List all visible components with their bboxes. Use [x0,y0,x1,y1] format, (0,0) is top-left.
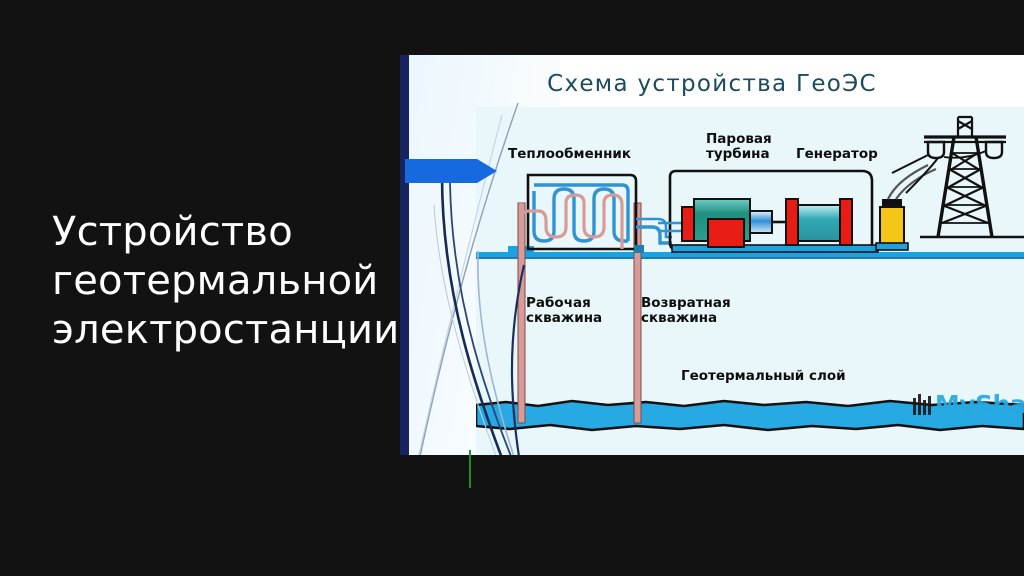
watermark: MyShar [913,390,1024,419]
watermark-text: MyShar [935,390,1024,419]
watermark-logo-icon [913,394,932,415]
panel-accent-bar [400,55,409,455]
slide-canvas: Устройство геотермальной электростанции … [0,0,1024,576]
generator [786,199,852,245]
transmission-tower [892,117,1024,237]
steam-turbine [682,199,788,247]
label-generator: Генератор [796,147,878,162]
label-geothermal-layer: Геотермальный слой [681,369,846,384]
label-steam-turbine: Паровая турбина [706,132,772,161]
decorative-grass-blades [400,55,570,455]
blue-right-arrow[interactable] [405,156,501,186]
illustration-panel: Схема устройства ГеоЭС [400,55,1024,455]
decorative-green-stalk [469,450,471,488]
label-return-well: Возвратная скважина [641,296,731,325]
